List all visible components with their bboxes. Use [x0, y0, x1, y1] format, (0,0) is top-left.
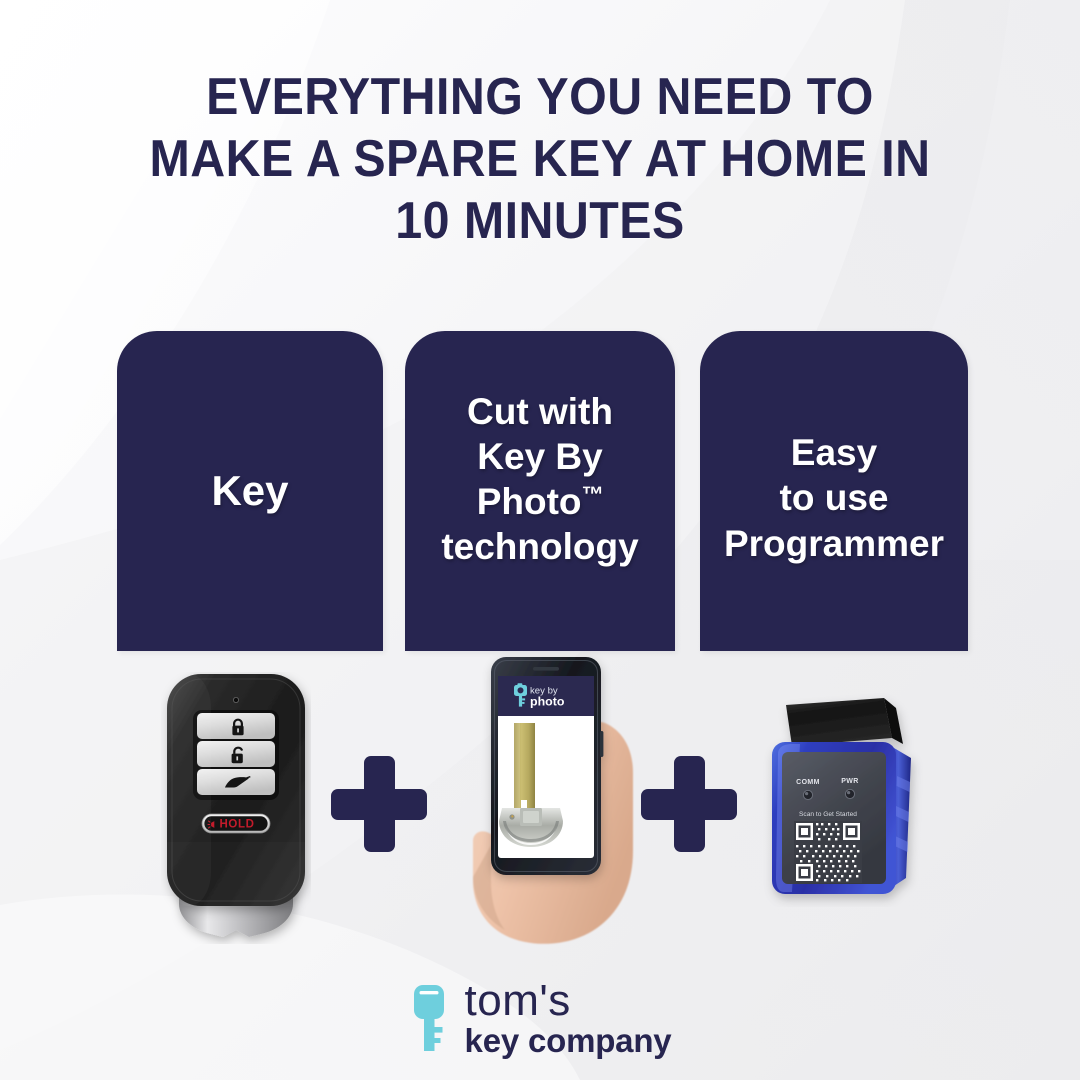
feature-card-key: Key [117, 331, 383, 651]
feature-card-key-text: Key [203, 465, 296, 516]
card2-line-3-word: Photo [477, 481, 582, 522]
headline-line-2: MAKE A SPARE KEY AT HOME IN [38, 128, 1042, 190]
brand-logo: tom's key company [0, 978, 1080, 1058]
phone-in-hand-image: key by photo [455, 645, 640, 950]
panic-hold-label: HOLD [220, 819, 255, 831]
card2-line-1: Cut with [441, 389, 638, 434]
led-label-comm: COMM [796, 779, 820, 786]
page-title: EVERYTHING YOU NEED TO MAKE A SPARE KEY … [38, 66, 1042, 252]
card3-line-2: to use [724, 475, 944, 520]
card1-line-1: Key [211, 465, 288, 516]
panic-hold-button: HOLD [202, 814, 270, 833]
key-by-photo-app-logo: key by photo [498, 676, 594, 716]
feature-card-key-by-photo: Cut with Key By Photo™ technology [405, 331, 675, 651]
feature-card-programmer: Easy to use Programmer [700, 331, 968, 651]
brand-logo-wordmark: tom's key company [465, 979, 672, 1057]
card2-line-4: technology [441, 524, 638, 569]
key-fob-image: HOLD [161, 672, 311, 944]
trademark-symbol: ™ [582, 482, 604, 507]
toms-key-icon [409, 985, 453, 1051]
feature-card-row: Key Cut with Key By Photo™ technology Ea… [0, 331, 1080, 651]
brand-logo-line-1: tom's [465, 979, 672, 1023]
qr-code [794, 821, 862, 883]
headline-line-3: 10 MINUTES [38, 190, 1042, 252]
feature-card-key-by-photo-text: Cut with Key By Photo™ technology [433, 389, 646, 570]
plus-bar-vertical [674, 756, 705, 852]
card3-line-3: Programmer [724, 521, 944, 566]
app-logo-line-2: photo [530, 695, 565, 709]
brand-logo-line-2: key company [465, 1024, 672, 1057]
card2-line-2: Key By [441, 434, 638, 479]
headline-line-1: EVERYTHING YOU NEED TO [38, 66, 1042, 128]
card3-line-1: Easy [724, 430, 944, 475]
plus-separator-1 [331, 756, 427, 852]
qr-caption: Scan to Get Started [799, 811, 857, 818]
plus-separator-2 [641, 756, 737, 852]
obd-programmer-image: COMM PWR Scan to Get Started [756, 692, 946, 907]
card2-line-3: Photo™ [441, 479, 638, 524]
feature-card-programmer-text: Easy to use Programmer [716, 430, 952, 565]
led-label-pwr: PWR [841, 778, 859, 785]
plus-bar-vertical [364, 756, 395, 852]
